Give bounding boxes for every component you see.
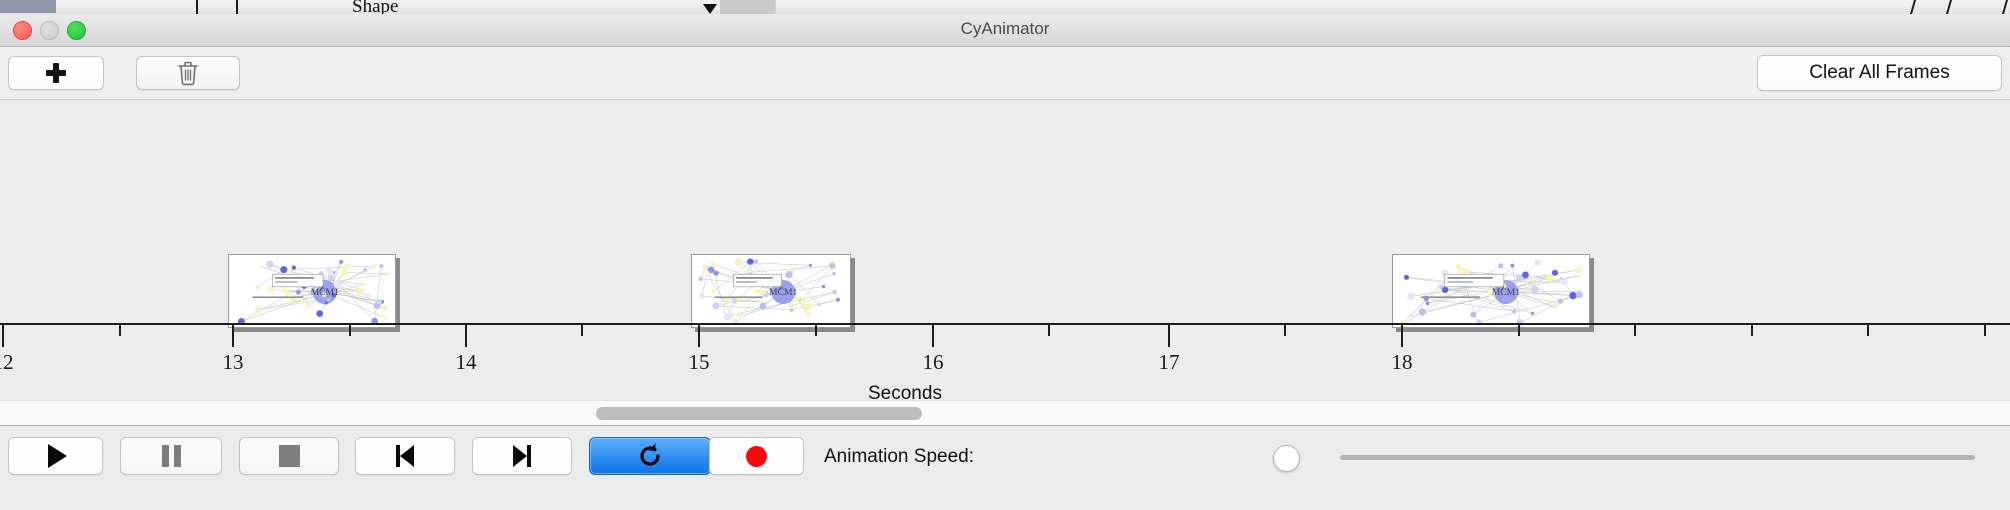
axis-tick-minor [1284,325,1286,336]
skip-to-end-button[interactable] [472,437,572,475]
background-cursor-arrow [703,4,717,14]
background-tick [236,0,238,14]
axis-title: Seconds [868,383,942,400]
network-graph: MCM1 [229,255,396,328]
background-toolbar-segment [190,0,261,14]
stop-button[interactable] [239,437,339,475]
timeline-axis-line [0,323,2010,325]
add-frame-button[interactable] [8,56,104,90]
titlebar: CyAnimator [0,14,2010,47]
background-tick [196,0,198,14]
axis-tick-major [1401,325,1403,347]
background-toolbar-segment [1000,0,2010,14]
clear-all-frames-button[interactable]: Clear All Frames [1757,55,2002,91]
playback-controls: Animation Speed: [0,425,2010,488]
plus-icon [46,63,66,83]
axis-tick-label: 18 [1392,350,1413,375]
axis-tick-minor [815,325,817,336]
play-icon [48,444,67,468]
timeline-scrollbar[interactable] [0,400,2010,425]
animation-speed-slider-track[interactable] [1340,455,1975,460]
scrollbar-thumb[interactable] [596,407,922,420]
axis-tick-major [465,325,467,347]
axis-tick-major [232,325,234,347]
axis-tick-major [932,325,934,347]
axis-tick-label: 13 [223,350,244,375]
skip-forward-icon [513,445,531,467]
background-toolbar-segment [150,0,191,14]
hub-node-label: MCM1 [1492,287,1520,298]
skip-to-start-button[interactable] [355,437,455,475]
background-window-strip: Shape [0,0,2010,14]
record-button[interactable] [709,437,804,475]
axis-tick-minor [349,325,351,336]
keyframe-thumbnail[interactable]: MCM1 [691,254,851,328]
axis-tick-label: 16 [923,350,944,375]
timeline-panel[interactable]: MCM1MCM1MCM1 12131415161718 Seconds [0,100,2010,400]
loop-button[interactable] [589,437,711,475]
background-toolbar-segment [350,0,1001,14]
axis-tick-minor [119,325,121,336]
hub-node-label: MCM1 [311,287,339,298]
axis-tick-label: 12 [0,350,14,375]
hub-node-label: MCM1 [769,287,797,298]
axis-tick-minor [581,325,583,336]
trash-icon [177,60,199,86]
window-title: CyAnimator [0,19,2010,39]
animation-speed-slider-thumb[interactable] [1273,445,1300,472]
frame-toolbar: Clear All Frames [0,47,2010,100]
axis-tick-minor [1518,325,1520,336]
keyframe-thumbnail[interactable]: MCM1 [228,254,396,328]
axis-tick-label: 14 [456,350,477,375]
axis-tick-label: 17 [1159,350,1180,375]
background-toolbar-segment [60,0,151,14]
delete-frame-button[interactable] [136,56,240,90]
axis-tick-minor [1984,325,1986,336]
background-window-label: Shape [352,0,398,14]
network-graph: MCM1 [1393,255,1590,328]
axis-tick-major [1168,325,1170,347]
axis-tick-major [698,325,700,347]
background-toolbar-segment [720,0,776,14]
pause-icon [162,445,181,467]
play-button[interactable] [8,437,103,475]
animation-speed-label: Animation Speed: [824,446,974,468]
pause-button[interactable] [120,437,222,475]
skip-back-icon [396,445,414,467]
stop-icon [279,445,300,467]
loop-icon [636,442,664,470]
axis-tick-minor [1634,325,1636,336]
background-toolbar-segment [260,0,351,14]
cyanimator-window: CyAnimator Clear All Frames MCM1MCM1MCM1… [0,14,2010,510]
axis-tick-label: 15 [689,350,710,375]
clear-all-frames-label: Clear All Frames [1809,62,1949,84]
keyframe-thumbnail[interactable]: MCM1 [1392,254,1590,328]
axis-tick-minor [1867,325,1869,336]
record-icon [746,446,767,467]
axis-tick-major [2,325,4,347]
axis-tick-minor [1751,325,1753,336]
axis-tick-minor [1048,325,1050,336]
network-graph: MCM1 [692,255,851,328]
background-selected-tab [0,0,56,13]
